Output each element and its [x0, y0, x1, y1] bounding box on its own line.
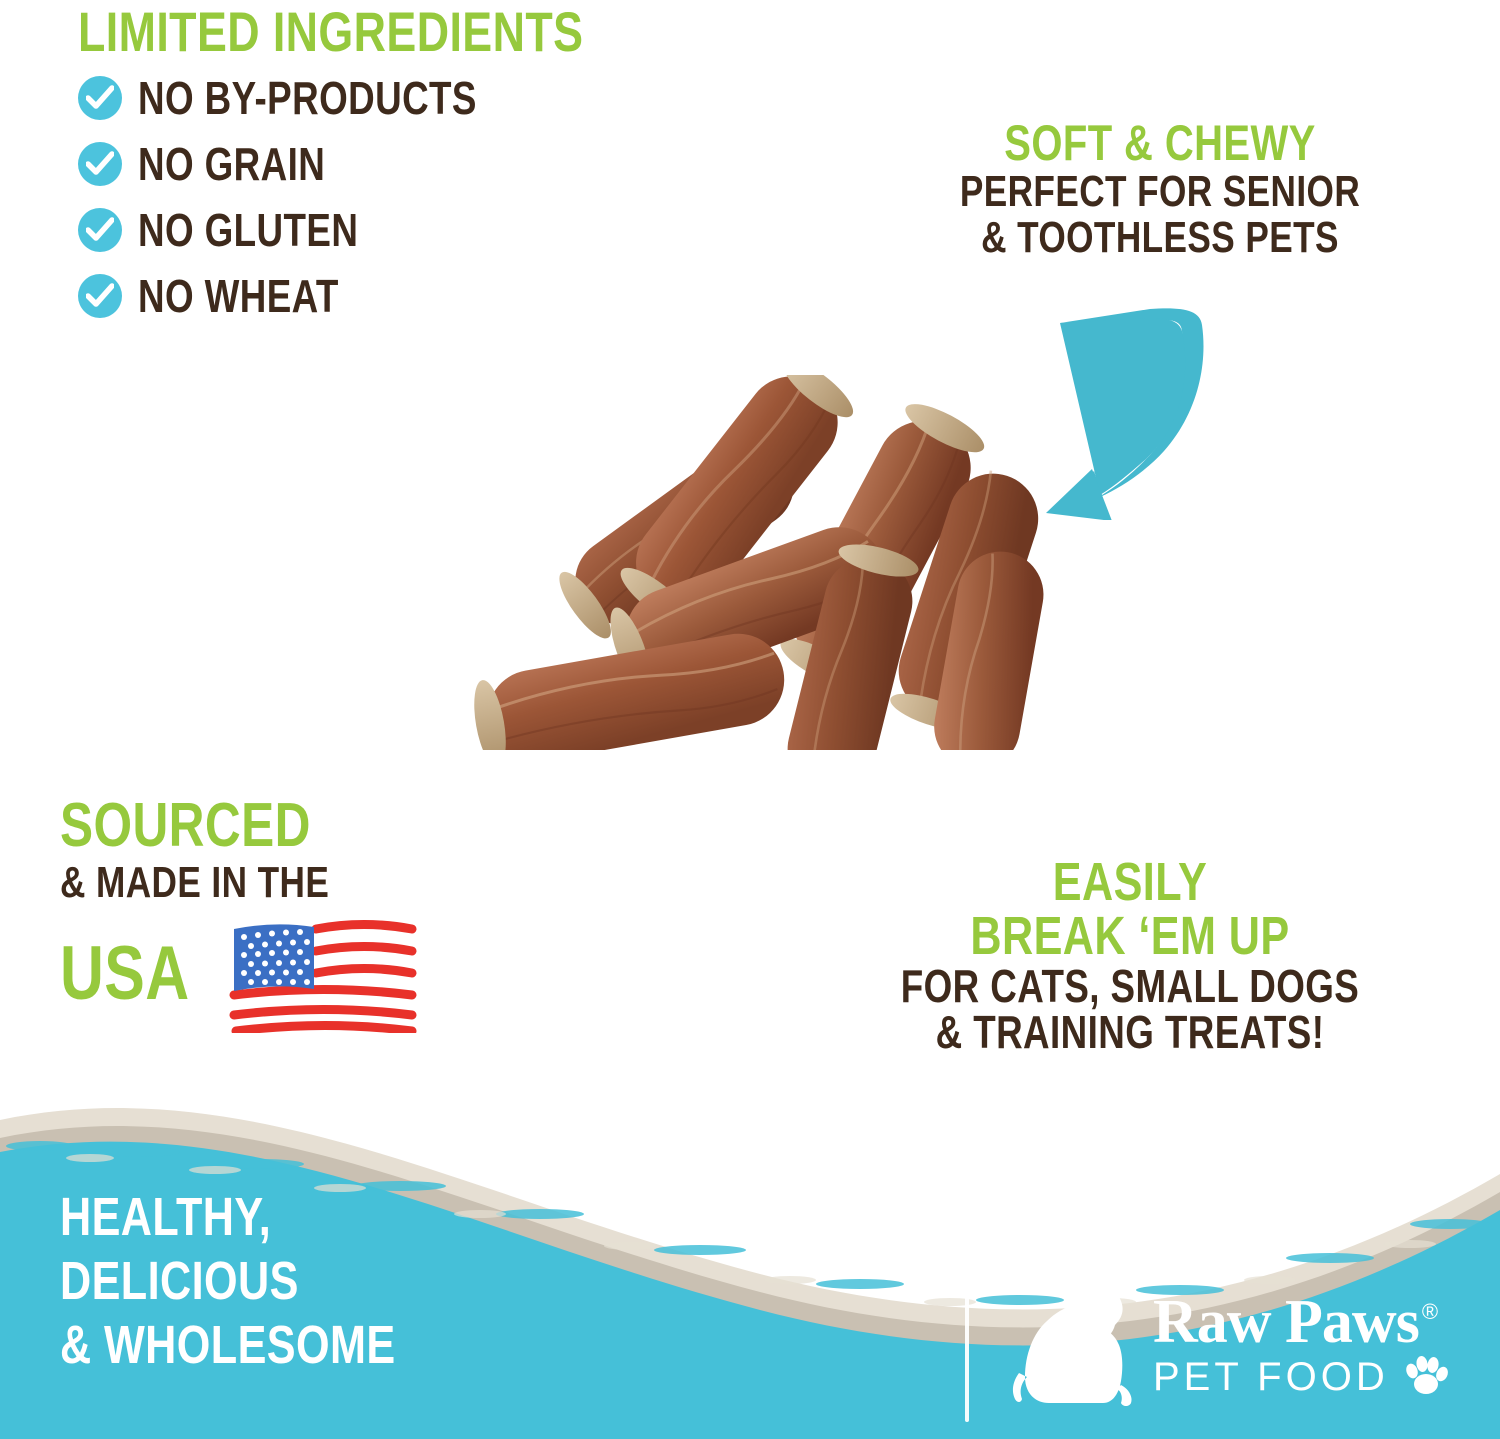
- sourced-usa-section: SOURCED & MADE IN THE USA: [60, 795, 530, 1038]
- break-em-up-line-2: BREAK ‘EM UP: [866, 909, 1394, 963]
- list-item: NO BY-PRODUCTS: [78, 70, 858, 126]
- list-item-label: NO BY-PRODUCTS: [138, 75, 477, 121]
- list-item-label: NO GLUTEN: [138, 207, 358, 253]
- usa-word: USA: [60, 936, 190, 1012]
- logo-wordmark: Raw Paws ® PET FOOD: [1153, 1293, 1449, 1401]
- soft-chewy-title: SOFT & CHEWY: [920, 118, 1400, 168]
- sourced-title: SOURCED: [60, 795, 436, 857]
- soft-chewy-section: SOFT & CHEWY PERFECT FOR SENIOR & TOOTHL…: [860, 118, 1460, 260]
- vertical-divider-icon: [965, 1272, 969, 1422]
- soft-chewy-line-1: PERFECT FOR SENIOR: [920, 170, 1400, 214]
- brand-logo: Raw Paws ® PET FOOD: [965, 1272, 1449, 1422]
- banner-line-1: HEALTHY,: [60, 1190, 396, 1244]
- check-circle-icon: [78, 142, 122, 186]
- break-em-up-line-3: FOR CATS, SMALL DOGS: [866, 963, 1394, 1009]
- break-em-up-section: EASILY BREAK ‘EM UP FOR CATS, SMALL DOGS…: [800, 855, 1460, 1055]
- product-feature-graphic: LIMITED INGREDIENTS NO BY-PRODUCTS NO GR…: [0, 0, 1500, 1439]
- break-em-up-line-1: EASILY: [866, 855, 1394, 909]
- list-item-label: NO WHEAT: [138, 273, 339, 319]
- banner-line-3: & WHOLESOME: [60, 1318, 396, 1372]
- made-in-the-line: & MADE IN THE: [60, 861, 436, 905]
- usa-flag-icon: [228, 915, 418, 1038]
- limited-ingredients-title: LIMITED INGREDIENTS: [78, 4, 702, 60]
- break-em-up-line-4: & TRAINING TREATS!: [866, 1009, 1394, 1055]
- sausage-treats-photo: [410, 375, 1070, 750]
- logo-brand-row: Raw Paws ®: [1153, 1293, 1449, 1352]
- list-item: NO GLUTEN: [78, 202, 858, 258]
- registered-trademark-icon: ®: [1422, 1299, 1438, 1325]
- logo-brand-name: Raw Paws: [1153, 1293, 1419, 1352]
- check-circle-icon: [78, 76, 122, 120]
- check-circle-icon: [78, 208, 122, 252]
- list-item: NO WHEAT: [78, 268, 858, 324]
- soft-chewy-line-2: & TOOTHLESS PETS: [920, 216, 1400, 260]
- list-item: NO GRAIN: [78, 136, 858, 192]
- check-circle-icon: [78, 274, 122, 318]
- banner-line-2: DELICIOUS: [60, 1254, 396, 1308]
- logo-subtitle: PET FOOD: [1153, 1357, 1389, 1397]
- paw-print-icon: [1403, 1354, 1449, 1401]
- logo-subtitle-row: PET FOOD: [1153, 1354, 1449, 1401]
- banner-tagline: HEALTHY, DELICIOUS & WHOLESOME: [60, 1190, 480, 1382]
- dog-and-cat-silhouette-icon: [1009, 1277, 1141, 1418]
- limited-ingredients-section: LIMITED INGREDIENTS NO BY-PRODUCTS NO GR…: [78, 4, 858, 324]
- usa-row: USA: [60, 909, 530, 1038]
- list-item-label: NO GRAIN: [138, 141, 325, 187]
